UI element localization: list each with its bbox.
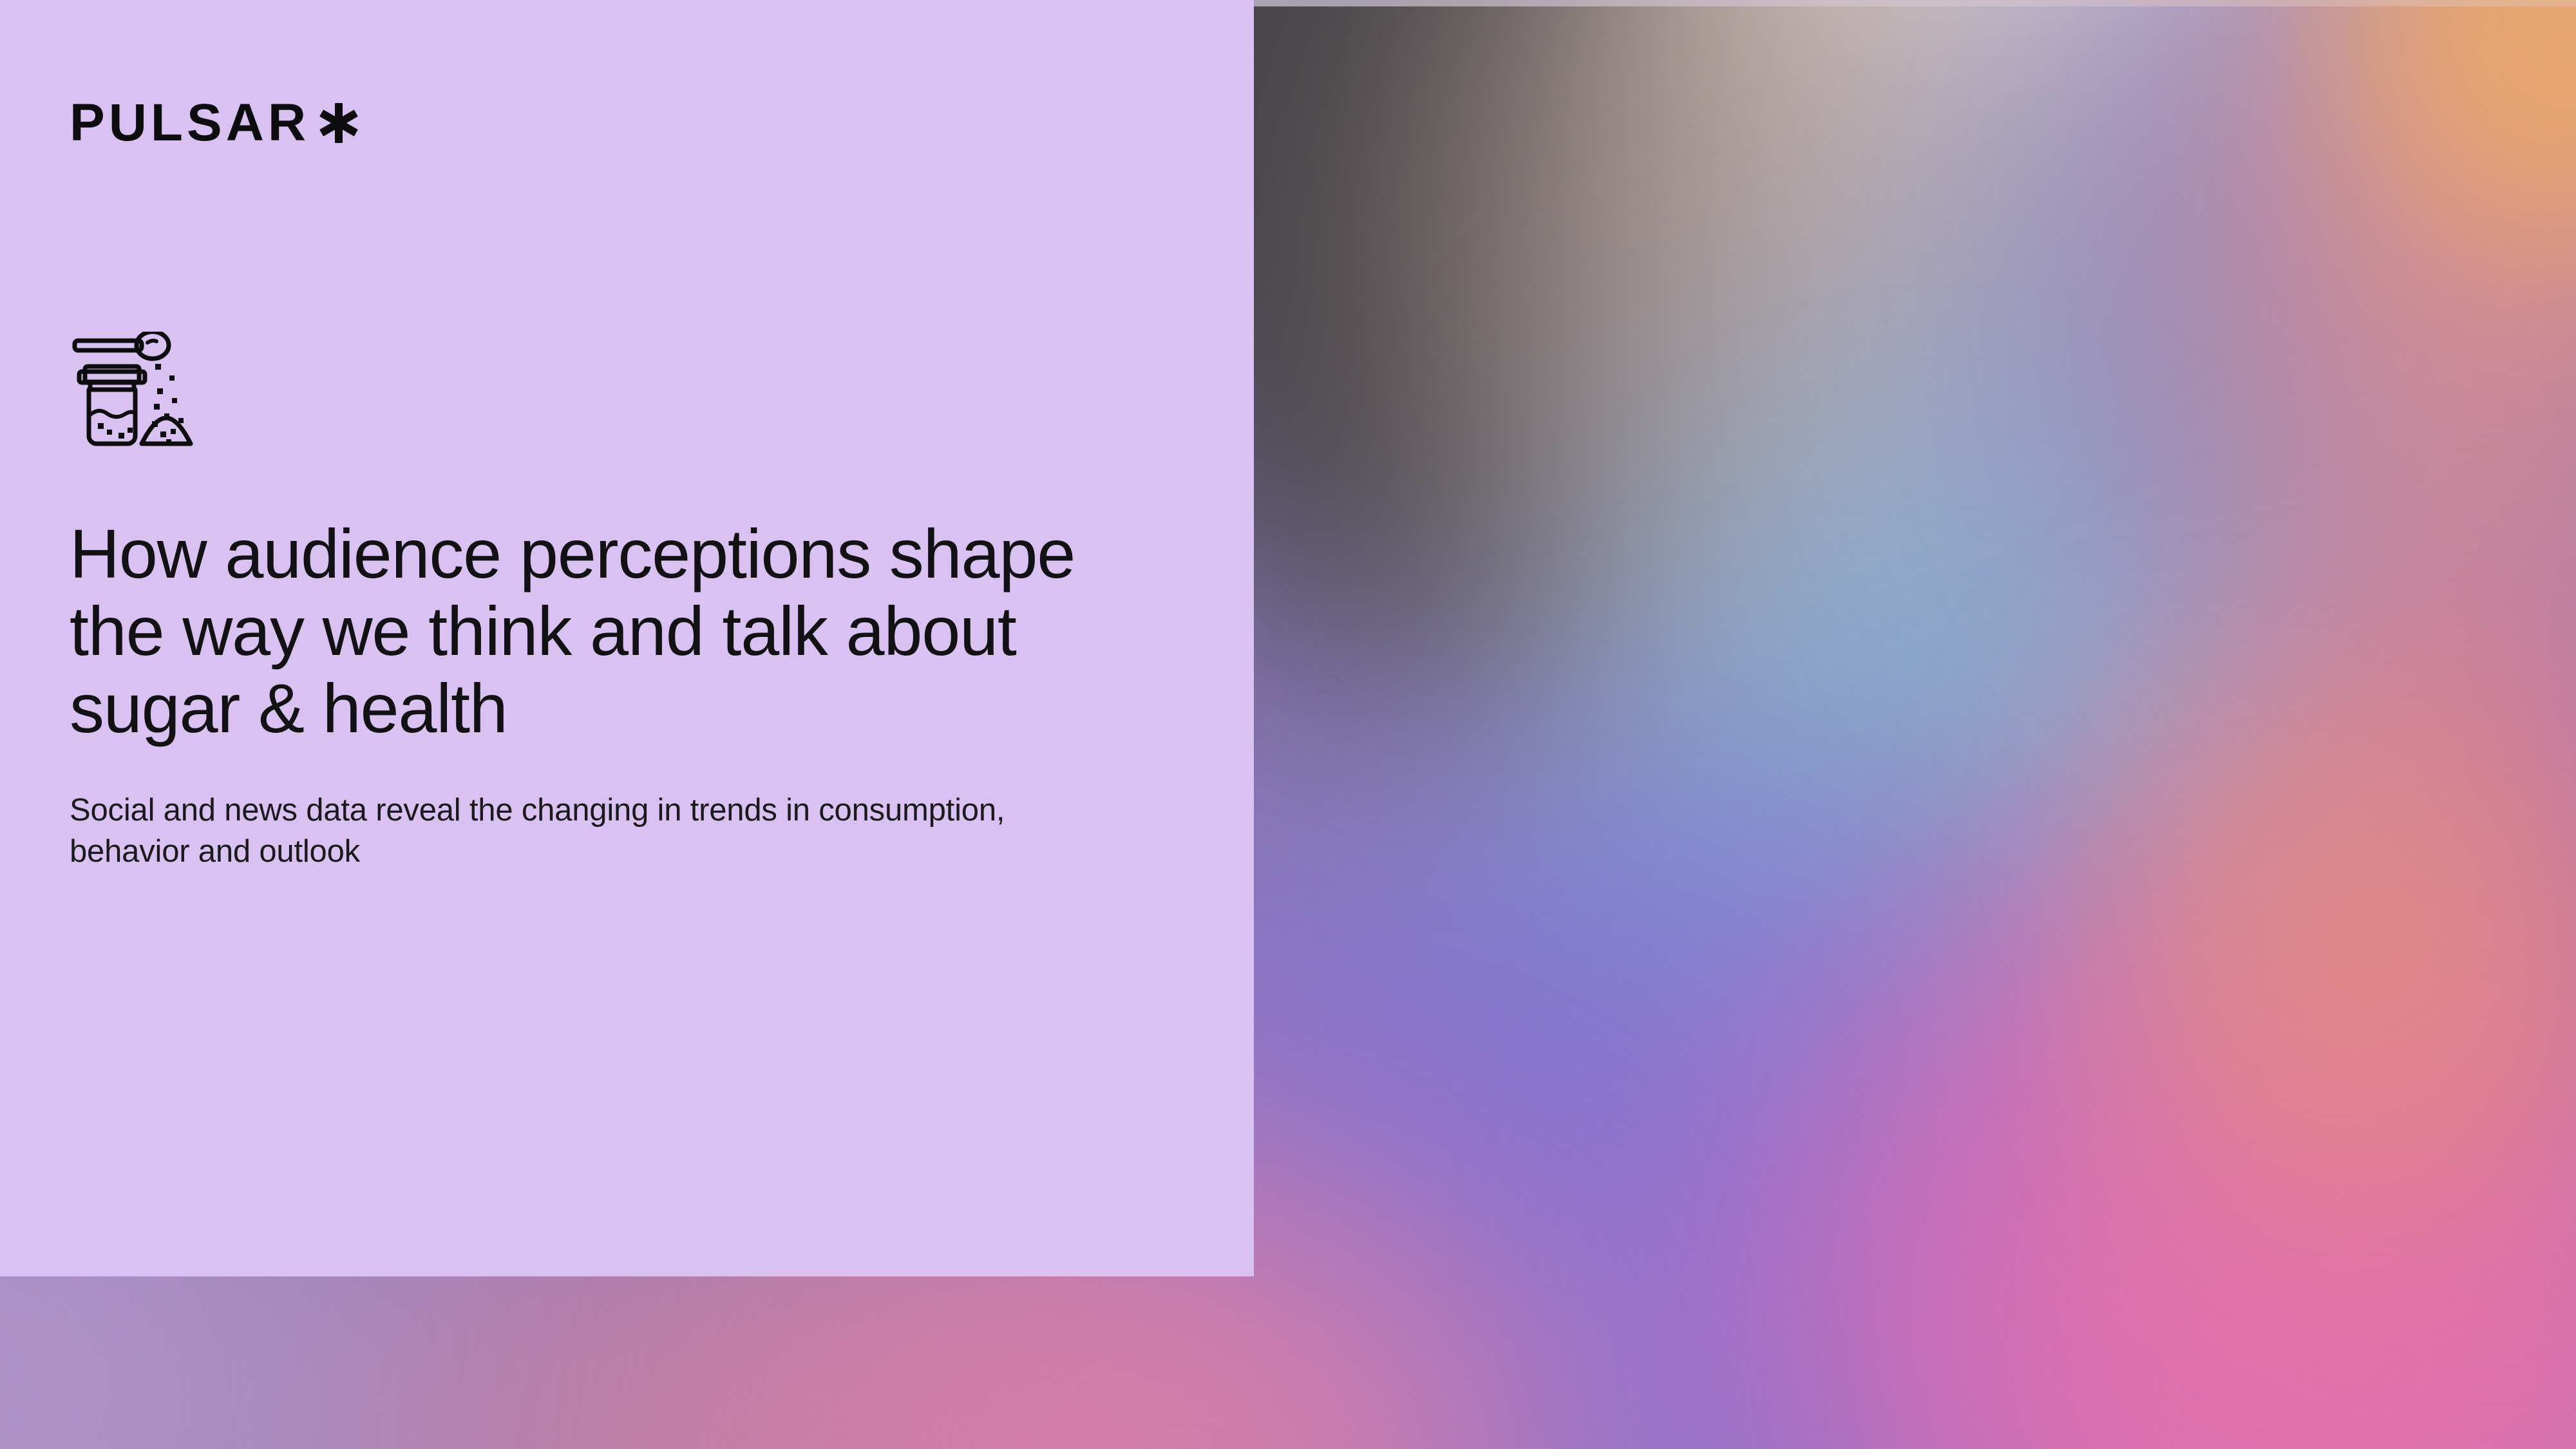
brand-wordmark: PULSAR — [70, 97, 310, 149]
brand-logo[interactable]: PULSAR — [70, 97, 363, 149]
page-subtitle: Social and news data reveal the changing… — [70, 790, 1074, 872]
content-panel-inner: PULSAR — [70, 0, 1164, 1276]
asterisk-icon — [315, 97, 363, 149]
page-title: How audience perceptions shape the way w… — [70, 515, 1126, 747]
gradient-blob-orange-2 — [2112, 683, 2576, 1198]
sugar-jar-spoon-icon — [70, 332, 196, 451]
report-cover: PULSAR — [0, 0, 2576, 1449]
content-panel: PULSAR — [0, 0, 1254, 1276]
